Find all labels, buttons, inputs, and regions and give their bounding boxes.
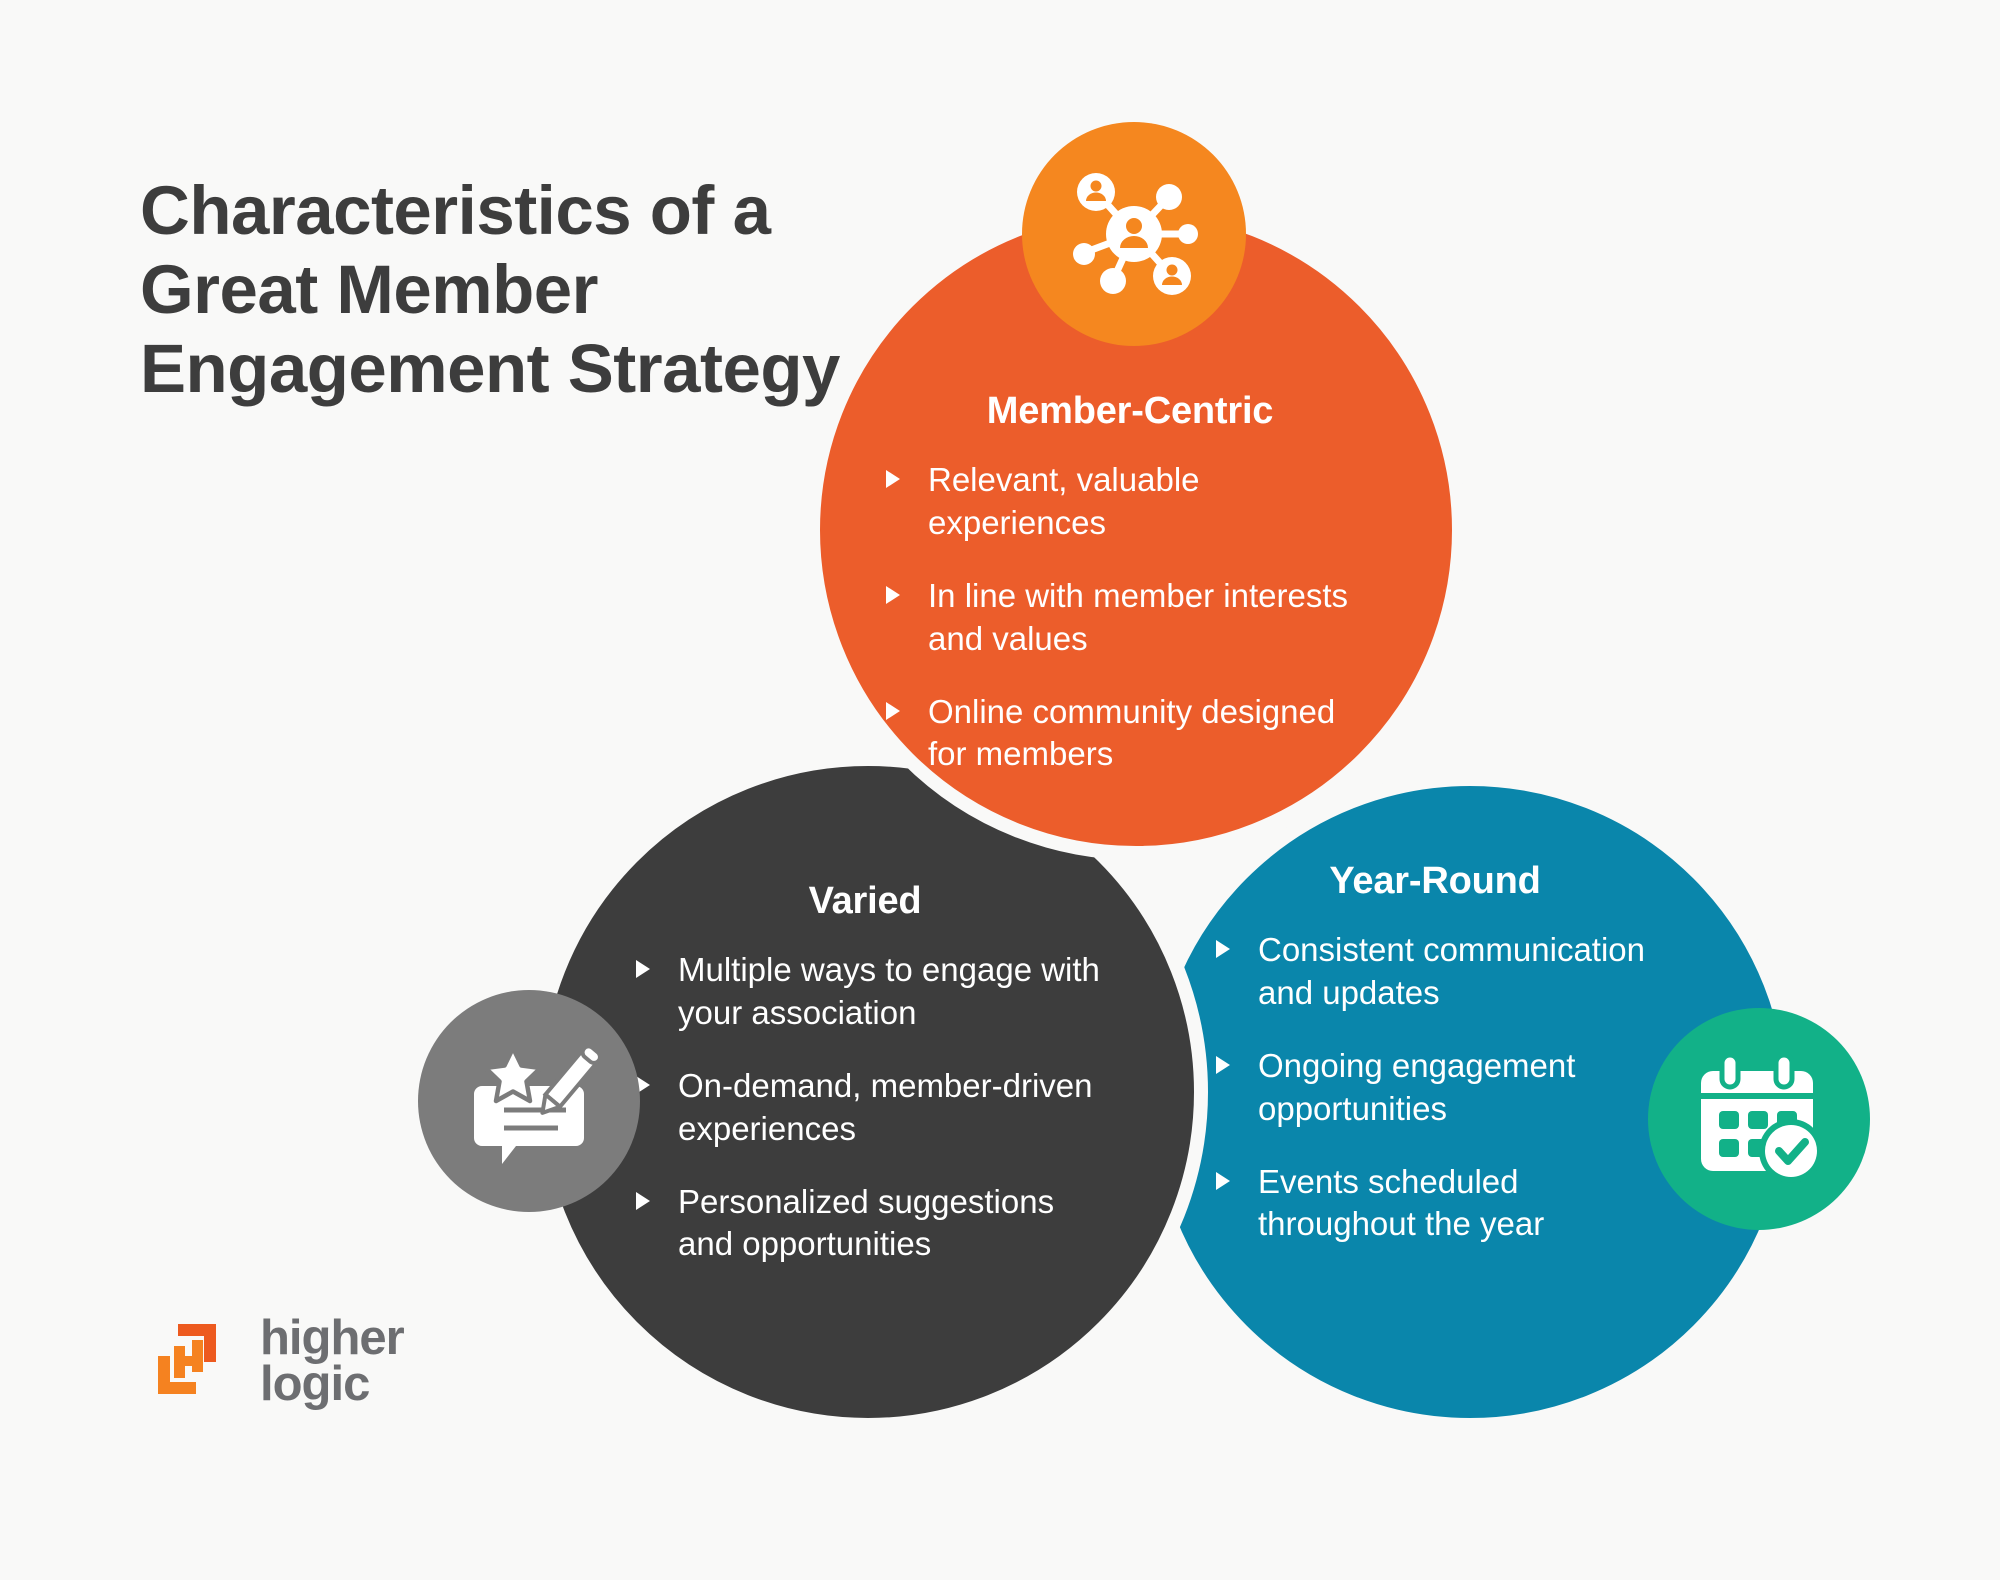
higher-logic-logo: higher logic (148, 1310, 404, 1413)
list-item: On-demand, member-driven experiences (630, 1065, 1100, 1151)
list-item-label: Multiple ways to engage with your associ… (678, 951, 1100, 1031)
list-item-label: Events scheduled throughout the year (1258, 1163, 1544, 1243)
logo-line-1: higher (260, 1316, 404, 1361)
list-item-label: Online community designed for members (928, 693, 1335, 773)
triangle-bullet-icon (1216, 1056, 1230, 1074)
higher-logic-wordmark: higher logic (260, 1316, 404, 1406)
review-pencil-icon (418, 990, 640, 1212)
list-item-label: Ongoing engagement opportunities (1258, 1047, 1575, 1127)
bullet-list-member-centric: Relevant, valuable experiences In line w… (880, 459, 1380, 776)
section-heading-year-round: Year-Round (1210, 860, 1660, 903)
triangle-bullet-icon (1216, 1172, 1230, 1190)
section-varied: Varied Multiple ways to engage with your… (630, 880, 1100, 1266)
list-item: In line with member interests and values (880, 575, 1380, 661)
list-item-label: Personalized suggestions and opportuniti… (678, 1183, 1054, 1263)
triangle-bullet-icon (636, 960, 650, 978)
section-heading-member-centric: Member-Centric (880, 390, 1380, 433)
page-title: Characteristics of a Great Member Engage… (140, 172, 840, 408)
list-item: Personalized suggestions and opportuniti… (630, 1181, 1100, 1267)
infographic-canvas: Characteristics of a Great Member Engage… (0, 0, 2000, 1580)
triangle-bullet-icon (886, 586, 900, 604)
list-item: Online community designed for members (880, 691, 1380, 777)
network-people-icon (1022, 122, 1246, 346)
list-item: Events scheduled throughout the year (1210, 1161, 1660, 1247)
list-item-label: Consistent communication and updates (1258, 931, 1645, 1011)
logo-line-2: logic (260, 1362, 404, 1407)
list-item: Relevant, valuable experiences (880, 459, 1380, 545)
triangle-bullet-icon (1216, 940, 1230, 958)
list-item: Consistent communication and updates (1210, 929, 1660, 1015)
triangle-bullet-icon (886, 470, 900, 488)
bullet-list-year-round: Consistent communication and updates Ong… (1210, 929, 1660, 1246)
list-item: Multiple ways to engage with your associ… (630, 949, 1100, 1035)
section-member-centric: Member-Centric Relevant, valuable experi… (880, 390, 1380, 776)
triangle-bullet-icon (886, 702, 900, 720)
section-year-round: Year-Round Consistent communication and … (1210, 860, 1660, 1246)
section-heading-varied: Varied (630, 880, 1100, 923)
triangle-bullet-icon (636, 1192, 650, 1210)
bullet-list-varied: Multiple ways to engage with your associ… (630, 949, 1100, 1266)
list-item: Ongoing engagement opportunities (1210, 1045, 1660, 1131)
calendar-check-icon (1648, 1008, 1870, 1230)
higher-logic-mark-icon (148, 1310, 246, 1413)
list-item-label: In line with member interests and values (928, 577, 1348, 657)
list-item-label: On-demand, member-driven experiences (678, 1067, 1093, 1147)
list-item-label: Relevant, valuable experiences (928, 461, 1200, 541)
